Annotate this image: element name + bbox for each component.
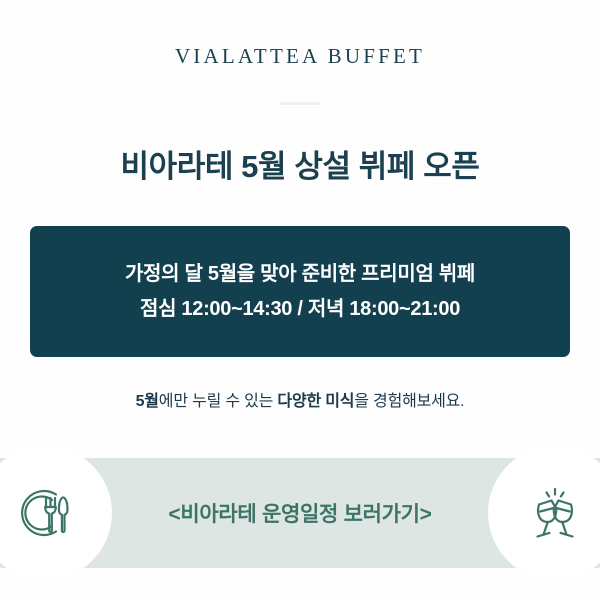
subcopy: 5월에만 누릴 수 있는 다양한 미식을 경험해보세요. xyxy=(0,391,600,413)
brand-name: VIALATTEA BUFFET xyxy=(0,44,600,69)
toasting-glasses-icon xyxy=(524,482,586,544)
subcopy-highlight: 다양한 미식 xyxy=(277,393,354,410)
subcopy-text-a: 에만 누릴 수 있는 xyxy=(159,393,278,410)
brand-divider xyxy=(279,102,321,105)
info-panel-line-1: 가정의 달 5월을 맞아 준비한 프리미엄 뷔페 xyxy=(125,262,475,287)
subcopy-text-b: 을 경험해보세요. xyxy=(354,393,464,410)
info-panel-line-2: 점심 12:00~14:30 / 저녁 18:00~21:00 xyxy=(140,297,460,322)
promo-card: VIALATTEA BUFFET 비아라테 5월 상설 뷔페 오픈 가정의 달 … xyxy=(0,0,600,600)
page-title: 비아라테 5월 상설 뷔페 오픈 xyxy=(0,148,600,187)
info-panel: 가정의 달 5월을 맞아 준비한 프리미엄 뷔페 점심 12:00~14:30 … xyxy=(30,226,570,357)
cta-band[interactable]: <비아라테 운영일정 보러가기> xyxy=(0,458,600,568)
brand-header: VIALATTEA BUFFET xyxy=(0,44,600,69)
subcopy-month: 5월 xyxy=(136,393,159,410)
